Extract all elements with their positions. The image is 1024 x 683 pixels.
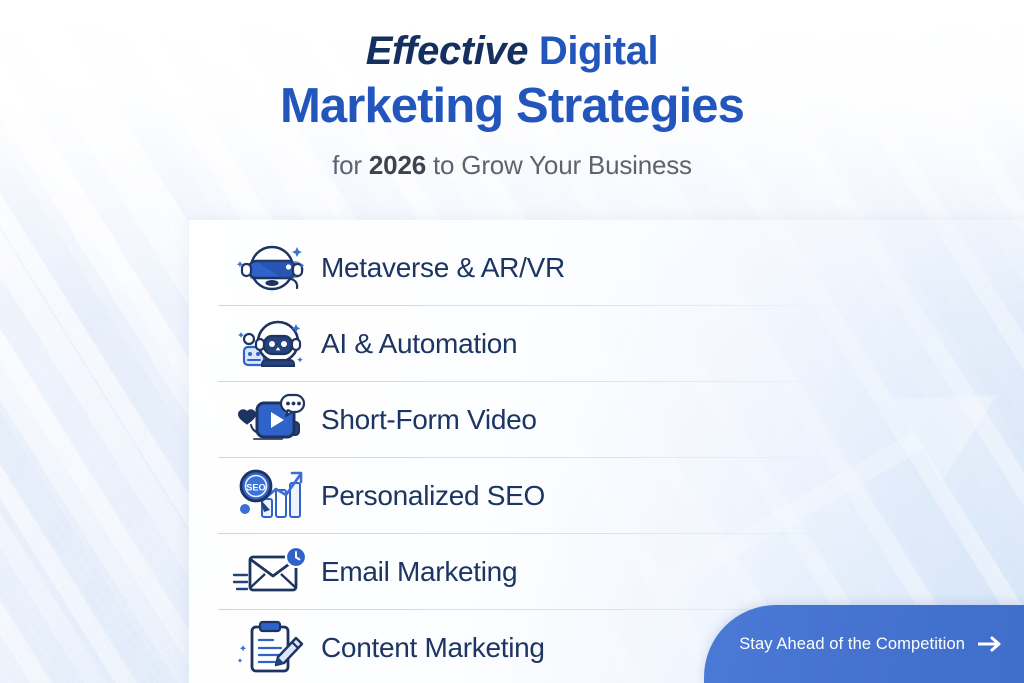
subtitle-prefix: for xyxy=(332,150,362,180)
envelope-clock-icon xyxy=(223,541,319,603)
clipboard-pencil-icon xyxy=(223,617,319,679)
infographic-poster: Effective Digital Marketing Strategies f… xyxy=(0,0,1024,683)
list-item-label: Short-Form Video xyxy=(321,404,537,436)
list-item[interactable]: Short-Form Video xyxy=(189,382,1024,458)
title-word-digital: Digital xyxy=(539,29,658,73)
cta-label: Stay Ahead of the Competition xyxy=(739,635,965,654)
list-item-label: Email Marketing xyxy=(321,556,517,588)
robot-head-icon xyxy=(223,313,319,375)
list-item-label: AI & Automation xyxy=(321,328,517,360)
list-item[interactable]: SEO Personalized SEO xyxy=(189,458,1024,534)
list-item[interactable]: AI & Automation xyxy=(189,306,1024,382)
list-item-label: Metaverse & AR/VR xyxy=(321,252,565,284)
title-word-effective: Effective xyxy=(366,29,528,73)
subtitle-suffix: to Grow Your Business xyxy=(433,150,692,180)
seo-magnifier-chart-icon: SEO xyxy=(223,465,319,527)
vr-headset-robot-icon xyxy=(223,237,319,299)
list-item-label: Personalized SEO xyxy=(321,480,545,512)
video-player-icon xyxy=(223,389,319,451)
poster-header: Effective Digital Marketing Strategies f… xyxy=(0,30,1024,181)
subtitle-year: 2026 xyxy=(369,150,426,180)
arrow-right-icon xyxy=(978,636,1002,652)
poster-subtitle: for 2026 to Grow Your Business xyxy=(0,150,1024,181)
svg-text:SEO: SEO xyxy=(246,482,265,492)
list-item[interactable]: Metaverse & AR/VR xyxy=(189,230,1024,306)
list-item[interactable]: Email Marketing xyxy=(189,534,1024,610)
title-line-2: Marketing Strategies xyxy=(0,79,1024,134)
cta-banner[interactable]: Stay Ahead of the Competition xyxy=(704,605,1024,683)
title-line-1: Effective Digital xyxy=(0,30,1024,73)
list-item-label: Content Marketing xyxy=(321,632,545,664)
